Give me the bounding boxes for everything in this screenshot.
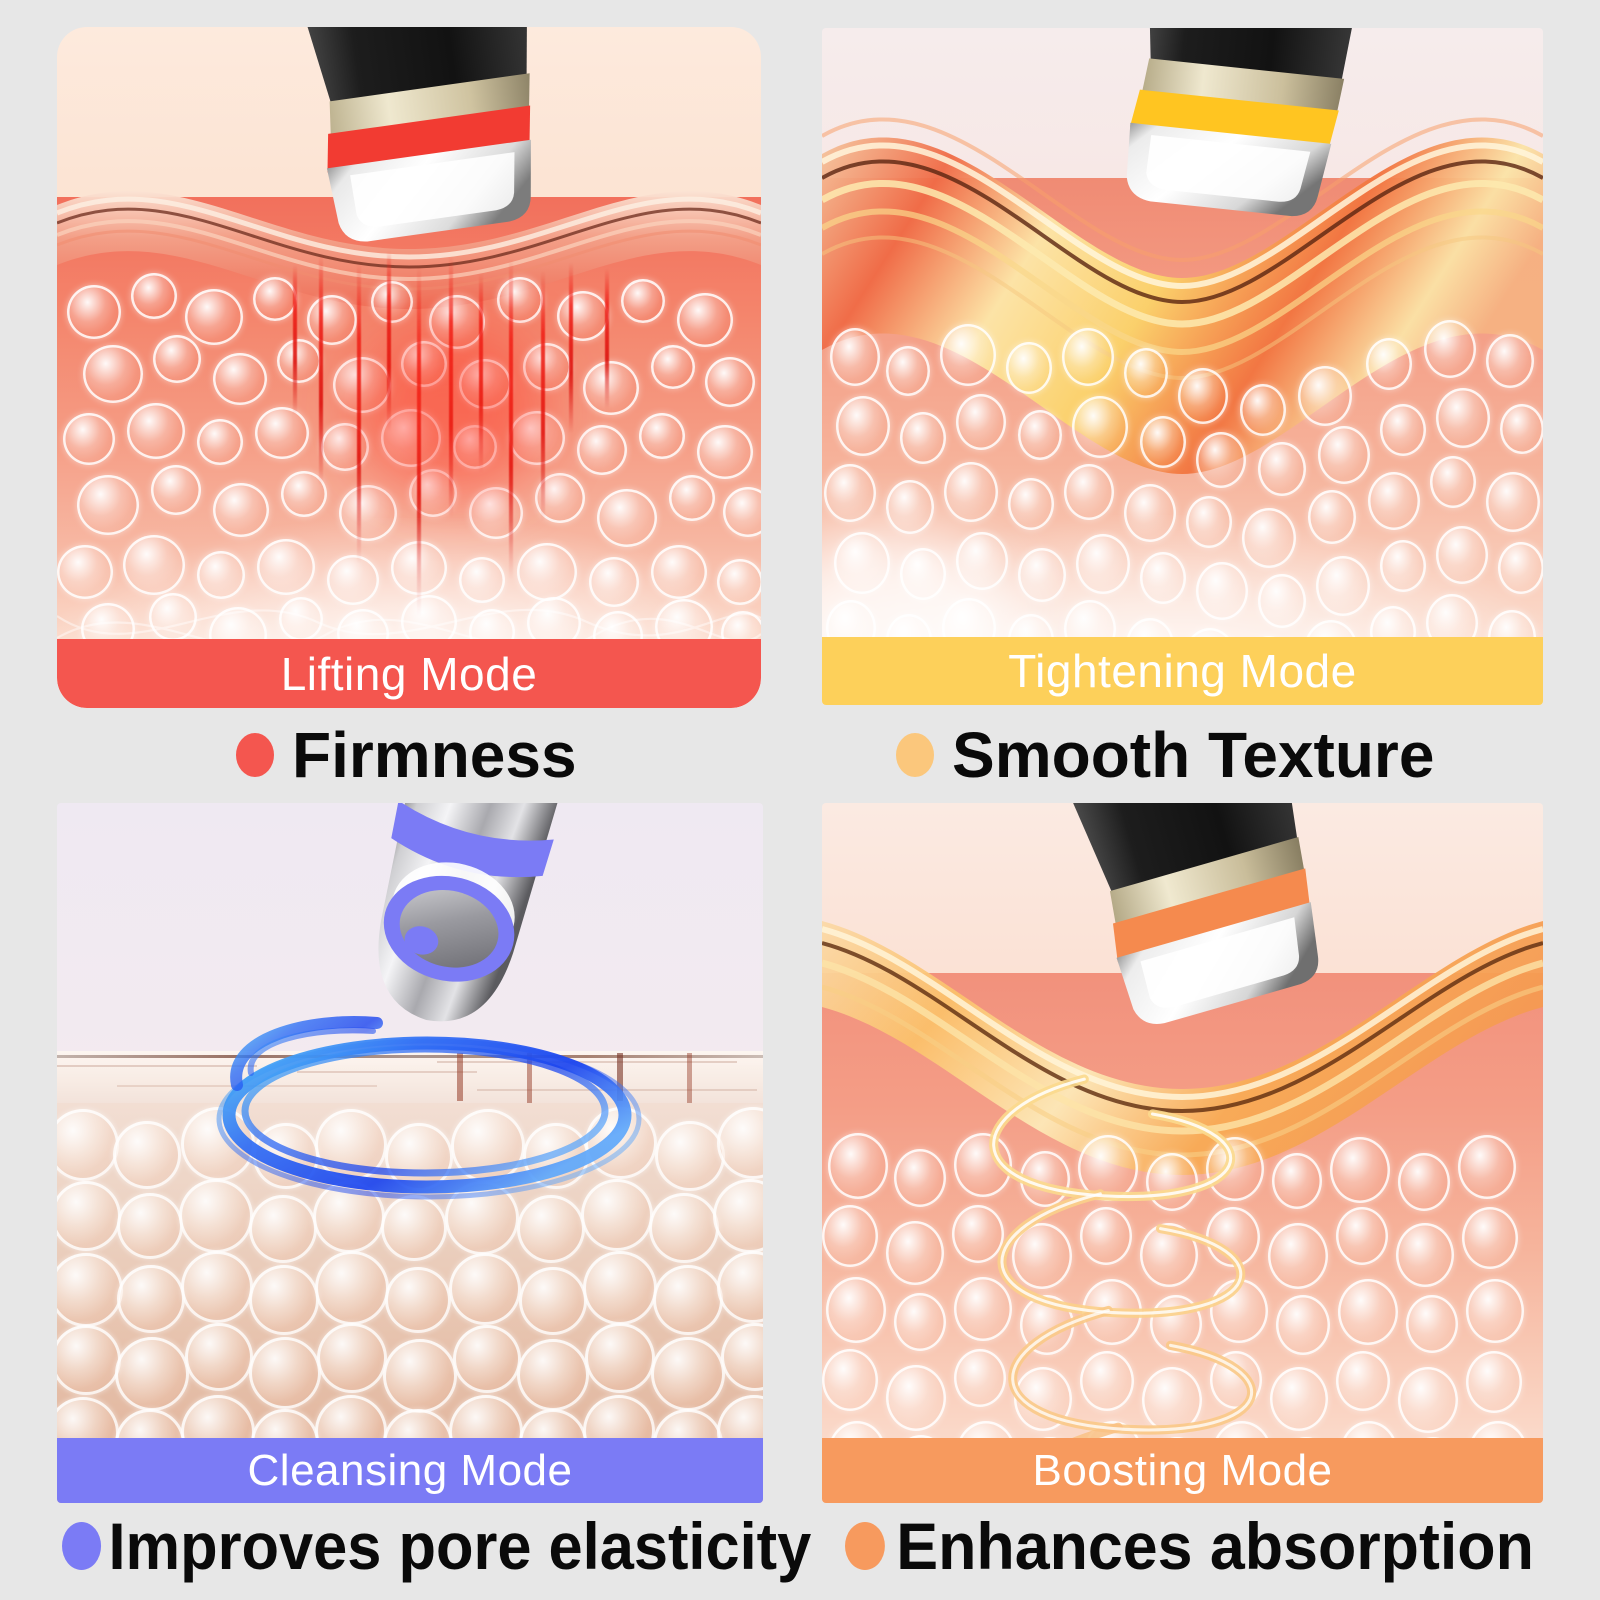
device-wand-lifting — [271, 27, 601, 247]
mode-label-tightening: Tightening Mode — [1008, 644, 1356, 698]
caption-text-enhances-absorption: Enhances absorption — [896, 1508, 1534, 1584]
bullet-dot-pore-elasticity — [62, 1522, 101, 1570]
caption-text-smooth-texture: Smooth Texture — [952, 718, 1434, 792]
caption-text-pore-elasticity: Improves pore elasticity — [109, 1508, 812, 1584]
caption-enhances-absorption: Enhances absorption — [845, 1508, 1534, 1584]
card-lifting-mode[interactable]: Lifting Mode — [57, 27, 761, 708]
mode-label-lifting: Lifting Mode — [281, 647, 538, 701]
mode-comparison-board: Lifting Mode — [0, 0, 1600, 1600]
mode-bar-boosting: Boosting Mode — [822, 1438, 1543, 1503]
bullet-dot-firmness — [236, 733, 274, 777]
boosting-illustration — [822, 803, 1543, 1503]
mode-bar-tightening: Tightening Mode — [822, 637, 1543, 705]
cleansing-illustration — [57, 803, 763, 1503]
lifting-illustration — [57, 27, 761, 708]
caption-text-firmness: Firmness — [292, 718, 577, 792]
tightening-illustration — [822, 28, 1543, 705]
mode-label-cleansing: Cleansing Mode — [248, 1446, 573, 1496]
mode-bar-lifting: Lifting Mode — [57, 639, 761, 708]
caption-pore-elasticity: Improves pore elasticity — [62, 1508, 811, 1584]
caption-firmness: Firmness — [236, 718, 577, 792]
card-boosting-mode[interactable]: Boosting Mode — [822, 803, 1543, 1503]
device-wand-tightening — [1072, 28, 1402, 232]
device-cone-cleansing — [301, 803, 601, 1071]
mode-bar-cleansing: Cleansing Mode — [57, 1438, 763, 1503]
caption-smooth-texture: Smooth Texture — [896, 718, 1434, 792]
card-tightening-mode[interactable]: Tightening Mode — [822, 28, 1543, 705]
mode-label-boosting: Boosting Mode — [1032, 1446, 1332, 1496]
bullet-dot-smooth-texture — [896, 733, 934, 777]
device-wand-boosting — [1048, 803, 1398, 1029]
bullet-dot-enhances-absorption — [845, 1522, 885, 1570]
card-cleansing-mode[interactable]: Cleansing Mode — [57, 803, 763, 1503]
